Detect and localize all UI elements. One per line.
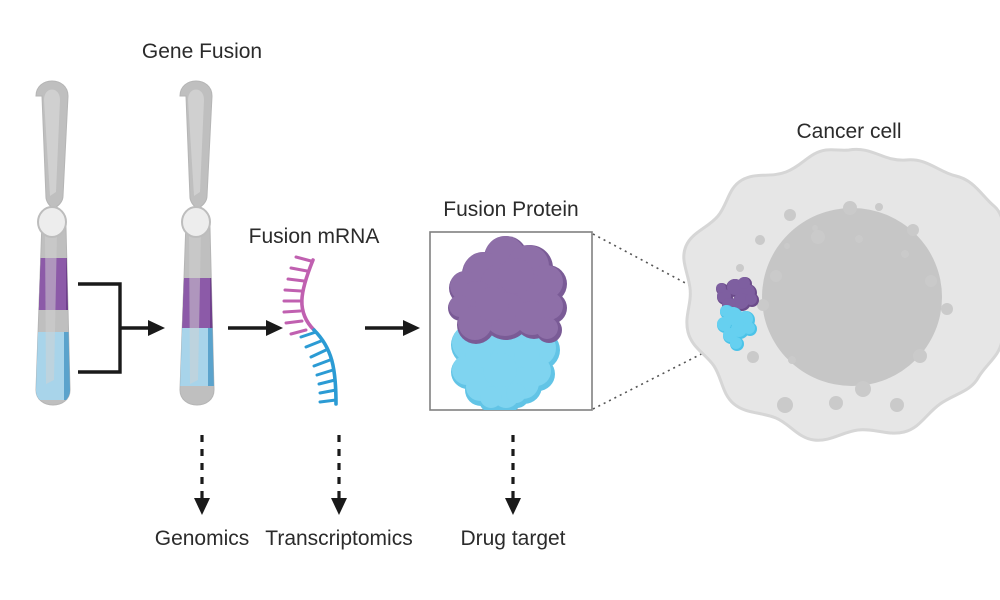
downstream-arrow-heads xyxy=(194,498,521,515)
label-fusion-protein: Fusion Protein xyxy=(443,198,578,221)
gene-fusion-diagram: Gene Fusion xyxy=(0,0,1000,600)
centromere xyxy=(38,207,66,237)
chromosome-normal xyxy=(28,81,78,405)
fusion-bracket xyxy=(78,284,150,372)
figure-canvas: Gene Fusion xyxy=(0,0,1000,600)
arrow-chromosome-to-mrna xyxy=(228,320,283,336)
arrow-mrna-to-protein xyxy=(365,320,420,336)
label-gene-fusion: Gene Fusion xyxy=(142,40,262,63)
cancer-cell xyxy=(684,149,1000,440)
downstream-arrows xyxy=(202,435,513,500)
mrna-ticks-blue xyxy=(301,332,336,402)
centromere xyxy=(182,207,210,237)
label-cancer-cell: Cancer cell xyxy=(796,120,901,143)
fusion-protein-blob xyxy=(448,236,567,413)
fusion-mrna-strand xyxy=(284,257,336,404)
label-drug-target: Drug target xyxy=(460,527,565,550)
label-fusion-mrna: Fusion mRNA xyxy=(249,225,380,248)
label-genomics: Genomics xyxy=(155,527,250,550)
fusion-arrow-head xyxy=(148,320,165,336)
chromosome-fused xyxy=(172,81,222,405)
label-transcriptomics: Transcriptomics xyxy=(265,527,412,550)
